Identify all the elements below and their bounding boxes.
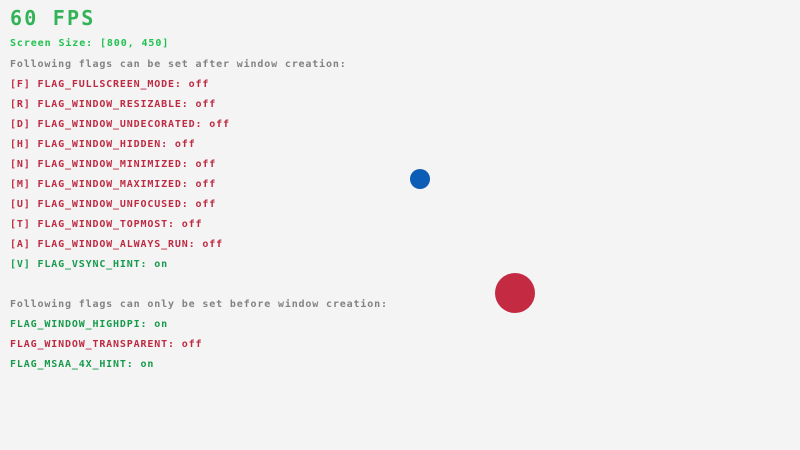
flag-row[interactable]: [U] FLAG_WINDOW_UNFOCUSED: off xyxy=(10,200,216,210)
flag-row[interactable]: [D] FLAG_WINDOW_UNDECORATED: off xyxy=(10,120,230,130)
flag-row[interactable]: [R] FLAG_WINDOW_RESIZABLE: off xyxy=(10,100,216,110)
flag-row[interactable]: [V] FLAG_VSYNC_HINT: on xyxy=(10,260,168,270)
flag-row[interactable]: FLAG_WINDOW_HIGHDPI: on xyxy=(10,320,168,330)
screen-size-label: Screen Size: [800, 450] xyxy=(10,39,169,49)
flag-row[interactable]: FLAG_MSAA_4X_HINT: on xyxy=(10,360,154,370)
flag-row[interactable]: [T] FLAG_WINDOW_TOPMOST: off xyxy=(10,220,202,230)
red-ball-shape xyxy=(495,273,535,313)
flag-row[interactable]: [M] FLAG_WINDOW_MAXIMIZED: off xyxy=(10,180,216,190)
flag-row[interactable]: FLAG_WINDOW_TRANSPARENT: off xyxy=(10,340,202,350)
raylib-window-canvas: 60 FPS Screen Size: [800, 450] Following… xyxy=(0,0,800,450)
blue-ball-shape xyxy=(410,169,430,189)
flag-row[interactable]: [F] FLAG_FULLSCREEN_MODE: off xyxy=(10,80,209,90)
section-header-after-creation: Following flags can be set after window … xyxy=(10,60,347,70)
flag-row[interactable]: [N] FLAG_WINDOW_MINIMIZED: off xyxy=(10,160,216,170)
flag-row[interactable]: [A] FLAG_WINDOW_ALWAYS_RUN: off xyxy=(10,240,223,250)
section-header-before-creation: Following flags can only be set before w… xyxy=(10,300,388,310)
fps-counter: 60 FPS xyxy=(10,8,95,28)
flag-row[interactable]: [H] FLAG_WINDOW_HIDDEN: off xyxy=(10,140,196,150)
